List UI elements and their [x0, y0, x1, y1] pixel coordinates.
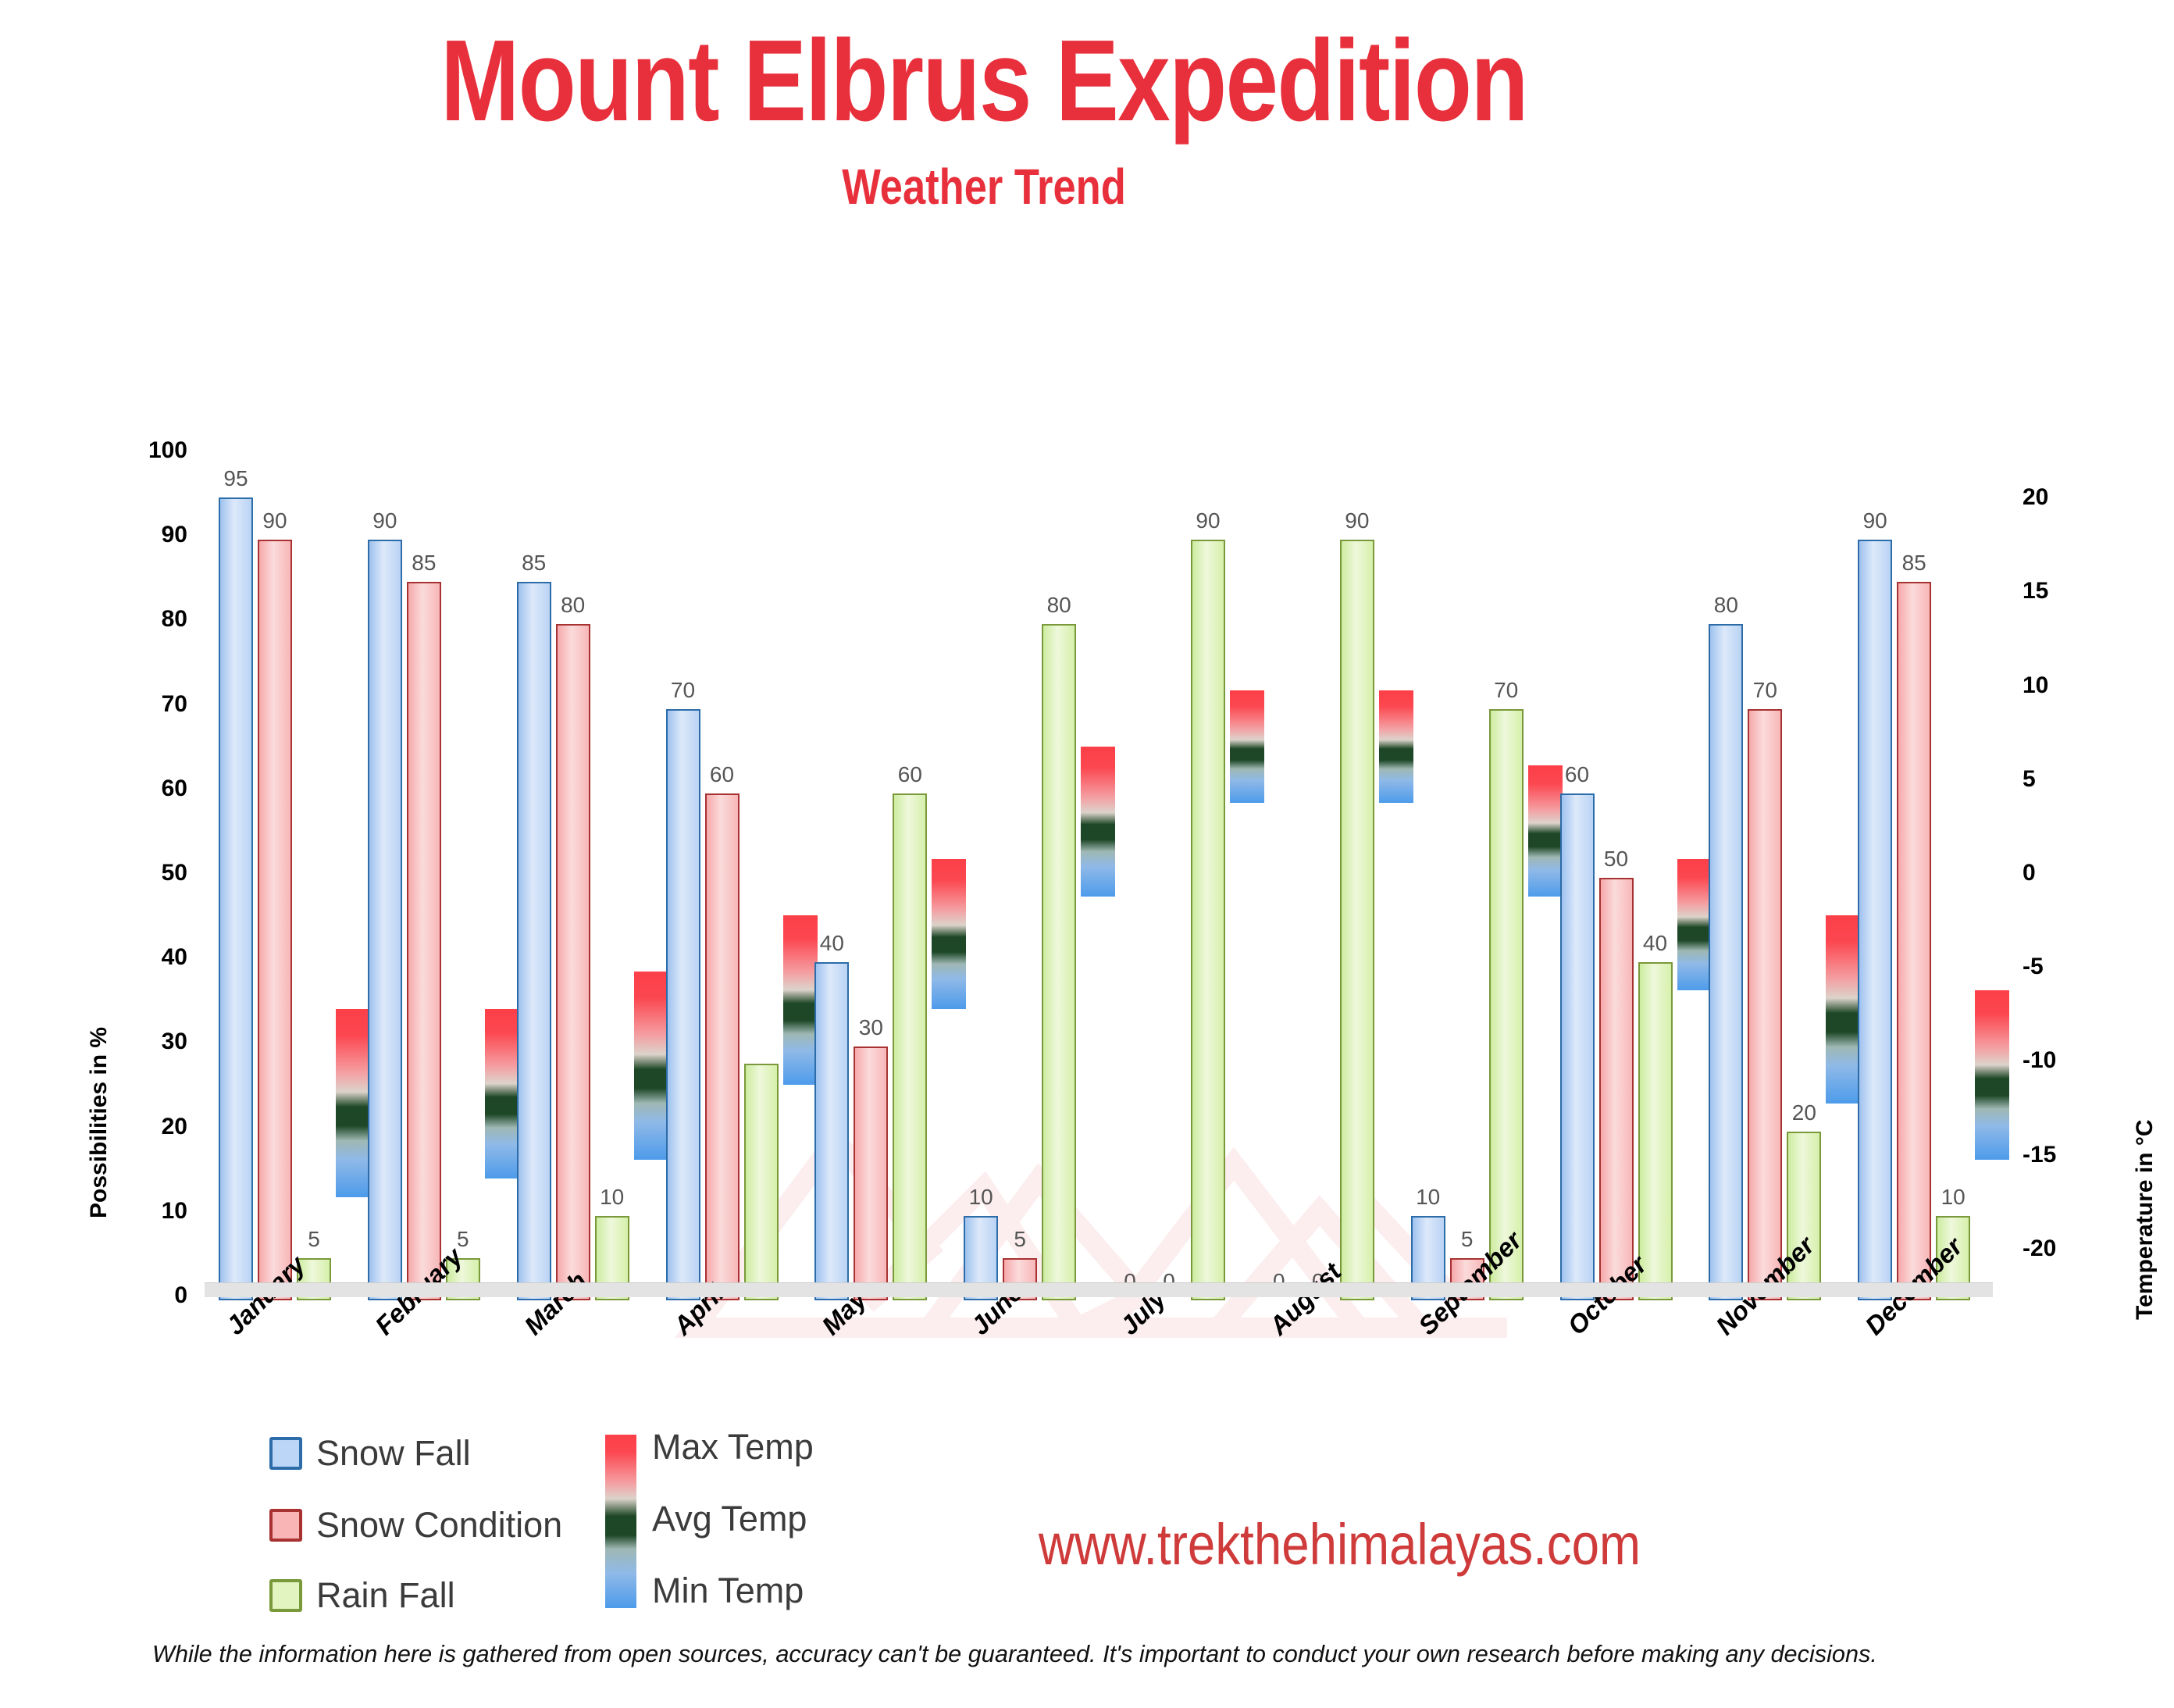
- bar-value-label: 60: [1549, 762, 1606, 787]
- bar-value-label: 70: [1737, 678, 1793, 703]
- bar-value-label: 60: [882, 762, 938, 787]
- y-tick-left: 50: [117, 860, 187, 886]
- month-group: 10570: [1397, 455, 1546, 1300]
- y-tick-left: 60: [117, 776, 187, 802]
- legend-label-min-temp: Min Temp: [652, 1571, 804, 1611]
- bar-value-label: 10: [1925, 1185, 1981, 1210]
- rain-fall-bar[interactable]: [893, 793, 927, 1300]
- rain-fall-bar[interactable]: [1042, 624, 1076, 1300]
- bar-value-label: 90: [357, 508, 413, 533]
- page-subtitle: Weather Trend: [177, 158, 1791, 216]
- legend-item-snow-condition[interactable]: Snow Condition: [269, 1505, 562, 1546]
- snow-condition-bar[interactable]: [407, 582, 441, 1300]
- month-group: 807020: [1695, 455, 1844, 1300]
- bar-value-label: 90: [1180, 508, 1236, 533]
- y-tick-right: 10: [2023, 672, 2093, 699]
- snow-fall-bar[interactable]: [1709, 624, 1743, 1300]
- snow-fall-bar[interactable]: [1858, 540, 1892, 1300]
- rain-fall-swatch-icon: [269, 1579, 302, 1612]
- bar-value-label: 5: [992, 1227, 1048, 1252]
- rain-fall-bar[interactable]: [1340, 540, 1374, 1300]
- bar-value-label: 70: [1478, 678, 1534, 703]
- page-title: Mount Elbrus Expedition: [177, 23, 1791, 139]
- disclaimer-text: While the information here is gathered f…: [152, 1640, 2069, 1668]
- y-tick-right: -20: [2023, 1236, 2093, 1262]
- bar-value-label: 85: [1886, 551, 1942, 576]
- snow-condition-bar[interactable]: [1748, 709, 1782, 1300]
- bar-value-label: 80: [1698, 593, 1754, 618]
- bar-value-label: 20: [1776, 1100, 1832, 1125]
- snow-fall-bar[interactable]: [219, 497, 253, 1300]
- y-axis-right-label: Temperature in °C: [2132, 1120, 2158, 1321]
- bar-value-label: 10: [584, 1185, 640, 1210]
- y-tick-right: 5: [2023, 766, 2093, 793]
- bar-value-label: 85: [396, 551, 452, 576]
- site-url[interactable]: www.trekthehimalayas.com: [1039, 1511, 1641, 1578]
- chart-header: Mount Elbrus Expedition Weather Trend: [0, 23, 1968, 216]
- snow-fall-bar[interactable]: [814, 962, 849, 1300]
- rain-fall-bar[interactable]: [1638, 962, 1673, 1300]
- month-group: 858010: [503, 455, 652, 1300]
- month-group: 95905: [205, 455, 354, 1300]
- bar-value-label: 90: [247, 508, 303, 533]
- plot-area: 9590590855858010706040306010580009000901…: [205, 453, 1993, 1300]
- y-tick-left: 0: [117, 1282, 187, 1309]
- y-tick-left: 90: [117, 522, 187, 548]
- month-group: 90855: [354, 455, 503, 1300]
- y-tick-right: -5: [2023, 954, 2093, 980]
- legend-label: Snow Fall: [316, 1433, 471, 1474]
- bar-value-label: 5: [286, 1227, 342, 1252]
- y-tick-right: -15: [2023, 1142, 2093, 1168]
- y-tick-left: 40: [117, 944, 187, 971]
- rain-fall-bar[interactable]: [1489, 709, 1524, 1300]
- snow-condition-bar[interactable]: [258, 540, 292, 1300]
- temperature-range-bar[interactable]: [1975, 990, 2009, 1159]
- y-tick-right: 20: [2023, 484, 2093, 511]
- bar-value-label: 60: [694, 762, 750, 787]
- bar-value-label: 10: [953, 1185, 1009, 1210]
- legend-label: Snow Condition: [316, 1505, 562, 1546]
- y-tick-left: 10: [117, 1198, 187, 1225]
- month-group: 7060: [652, 455, 801, 1300]
- bar-value-label: 95: [208, 466, 264, 491]
- bar-value-label: 40: [804, 931, 860, 956]
- legend-label-avg-temp: Avg Temp: [652, 1499, 807, 1539]
- legend-label-max-temp: Max Temp: [652, 1427, 814, 1467]
- bar-value-label: 70: [655, 678, 711, 703]
- month-group: 0090: [1099, 455, 1248, 1300]
- month-group: 605040: [1546, 455, 1695, 1300]
- y-tick-left: 30: [117, 1029, 187, 1055]
- bar-value-label: 50: [1588, 847, 1645, 872]
- snow-fall-bar[interactable]: [517, 582, 551, 1300]
- month-group: 0090: [1248, 455, 1397, 1300]
- bar-value-label: 30: [843, 1015, 899, 1040]
- snow-fall-swatch-icon: [269, 1437, 302, 1470]
- bar-value-label: 80: [545, 593, 601, 618]
- legend-label: Rain Fall: [316, 1575, 455, 1616]
- bar-value-label: 85: [506, 551, 562, 576]
- chart-legend: Snow Fall Snow Condition Rain Fall Max T…: [269, 1433, 1128, 1613]
- bar-value-label: 40: [1627, 931, 1684, 956]
- bar-value-label: 90: [1847, 508, 1903, 533]
- y-tick-left: 70: [117, 691, 187, 718]
- temperature-gradient-swatch-icon: [605, 1435, 636, 1608]
- bar-value-label: 80: [1031, 593, 1087, 618]
- bar-value-label: 10: [1400, 1185, 1456, 1210]
- y-tick-left: 20: [117, 1114, 187, 1140]
- y-tick-left: 100: [117, 437, 187, 464]
- bar-value-label: 90: [1329, 508, 1385, 533]
- y-tick-right: 0: [2023, 860, 2093, 886]
- y-tick-left: 80: [117, 606, 187, 633]
- legend-item-snow-fall[interactable]: Snow Fall: [269, 1433, 471, 1474]
- rain-fall-bar[interactable]: [1191, 540, 1225, 1300]
- y-tick-right: -10: [2023, 1047, 2093, 1074]
- y-axis-left-label: Possibilities in %: [86, 1027, 112, 1218]
- x-axis-baseline: [205, 1282, 1993, 1297]
- y-tick-right: 15: [2023, 578, 2093, 604]
- snow-condition-bar[interactable]: [854, 1047, 888, 1300]
- snow-condition-bar[interactable]: [705, 793, 740, 1300]
- rain-fall-bar[interactable]: [744, 1064, 779, 1300]
- month-group: 403060: [800, 455, 950, 1300]
- weather-chart: Possibilities in % Temperature in °C 010…: [0, 437, 2174, 1304]
- legend-item-rain-fall[interactable]: Rain Fall: [269, 1575, 455, 1616]
- snow-condition-swatch-icon: [269, 1509, 302, 1542]
- month-group: 10580: [950, 455, 1099, 1300]
- month-group: 908510: [1844, 455, 1993, 1300]
- snow-fall-bar[interactable]: [368, 540, 402, 1300]
- snow-fall-bar[interactable]: [666, 709, 700, 1300]
